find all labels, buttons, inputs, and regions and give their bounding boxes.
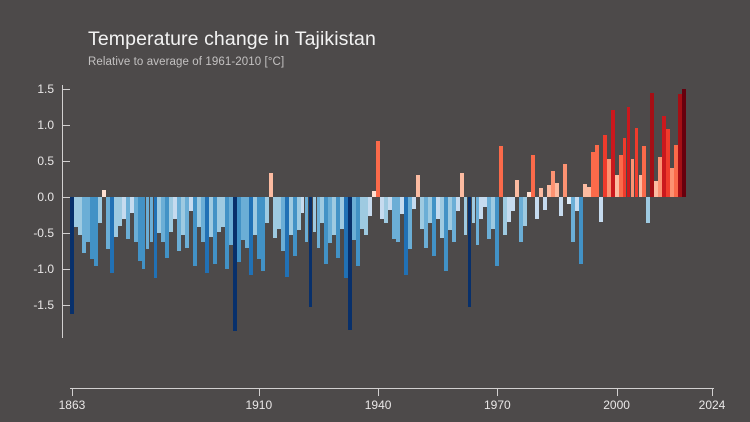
bar — [416, 175, 420, 197]
bar — [559, 197, 563, 216]
x-axis-tick — [497, 389, 498, 396]
y-axis-tick-label: -1.5 — [33, 298, 54, 312]
x-axis-tick-label: 2024 — [699, 398, 726, 412]
y-axis-tick — [63, 305, 70, 306]
x-axis-tick-label: 1863 — [59, 398, 86, 412]
y-axis-tick — [63, 197, 70, 198]
chart-title: Temperature change in Tajikistan — [88, 28, 376, 51]
x-axis-tick-label: 1940 — [365, 398, 392, 412]
y-axis-tick-label: -0.5 — [33, 226, 54, 240]
y-axis-tick-label: 0.5 — [37, 154, 54, 168]
bar — [98, 197, 102, 223]
x-axis-tick-label: 1970 — [484, 398, 511, 412]
bar-series — [70, 85, 714, 338]
y-axis-tick — [63, 233, 70, 234]
bar — [460, 173, 464, 197]
y-axis-spine — [62, 85, 70, 338]
y-axis-tick-label: -1.0 — [33, 262, 54, 276]
y-axis-tick — [63, 89, 70, 90]
bar — [579, 197, 583, 264]
x-axis-tick-label: 2000 — [603, 398, 630, 412]
y-axis-tick-label: 0.0 — [37, 190, 54, 204]
bar — [642, 146, 646, 197]
y-axis-tick — [63, 161, 70, 162]
bar — [539, 188, 543, 197]
bar — [376, 141, 380, 197]
bar — [595, 145, 599, 197]
bar — [563, 164, 567, 197]
bar — [495, 197, 499, 266]
x-axis-labels: 186319101940197020002024 — [0, 398, 750, 422]
bar — [599, 197, 603, 222]
y-axis-tick-label: 1.0 — [37, 118, 54, 132]
bar — [102, 190, 106, 197]
plot-area — [70, 85, 714, 338]
y-axis-tick-label: 1.5 — [37, 82, 54, 96]
bar — [543, 197, 547, 210]
bar — [511, 197, 515, 211]
x-axis-tick — [378, 389, 379, 396]
chart-subtitle: Relative to average of 1961-2010 [°C] — [88, 56, 284, 68]
x-axis-tick — [712, 389, 713, 396]
bar — [682, 89, 686, 197]
y-axis-tick — [63, 125, 70, 126]
y-axis-tick — [63, 269, 70, 270]
warming-stripes-figure: Temperature change in Tajikistan Relativ… — [0, 0, 750, 422]
x-axis-spine — [70, 388, 714, 396]
x-axis-tick — [259, 389, 260, 396]
bar — [523, 197, 527, 226]
bar — [499, 146, 503, 197]
bar — [265, 197, 269, 223]
bar — [515, 180, 519, 197]
bar — [531, 155, 535, 197]
bar — [368, 197, 372, 216]
x-axis-tick — [72, 389, 73, 396]
bar — [555, 183, 559, 197]
bar — [646, 197, 650, 223]
y-axis-labels: -1.5-1.0-0.50.00.51.01.5 — [0, 0, 58, 422]
x-axis-tick-label: 1910 — [245, 398, 272, 412]
bar — [269, 173, 273, 197]
bar — [456, 197, 460, 211]
bar — [412, 197, 416, 209]
bar — [535, 197, 539, 219]
x-axis-tick — [617, 389, 618, 396]
